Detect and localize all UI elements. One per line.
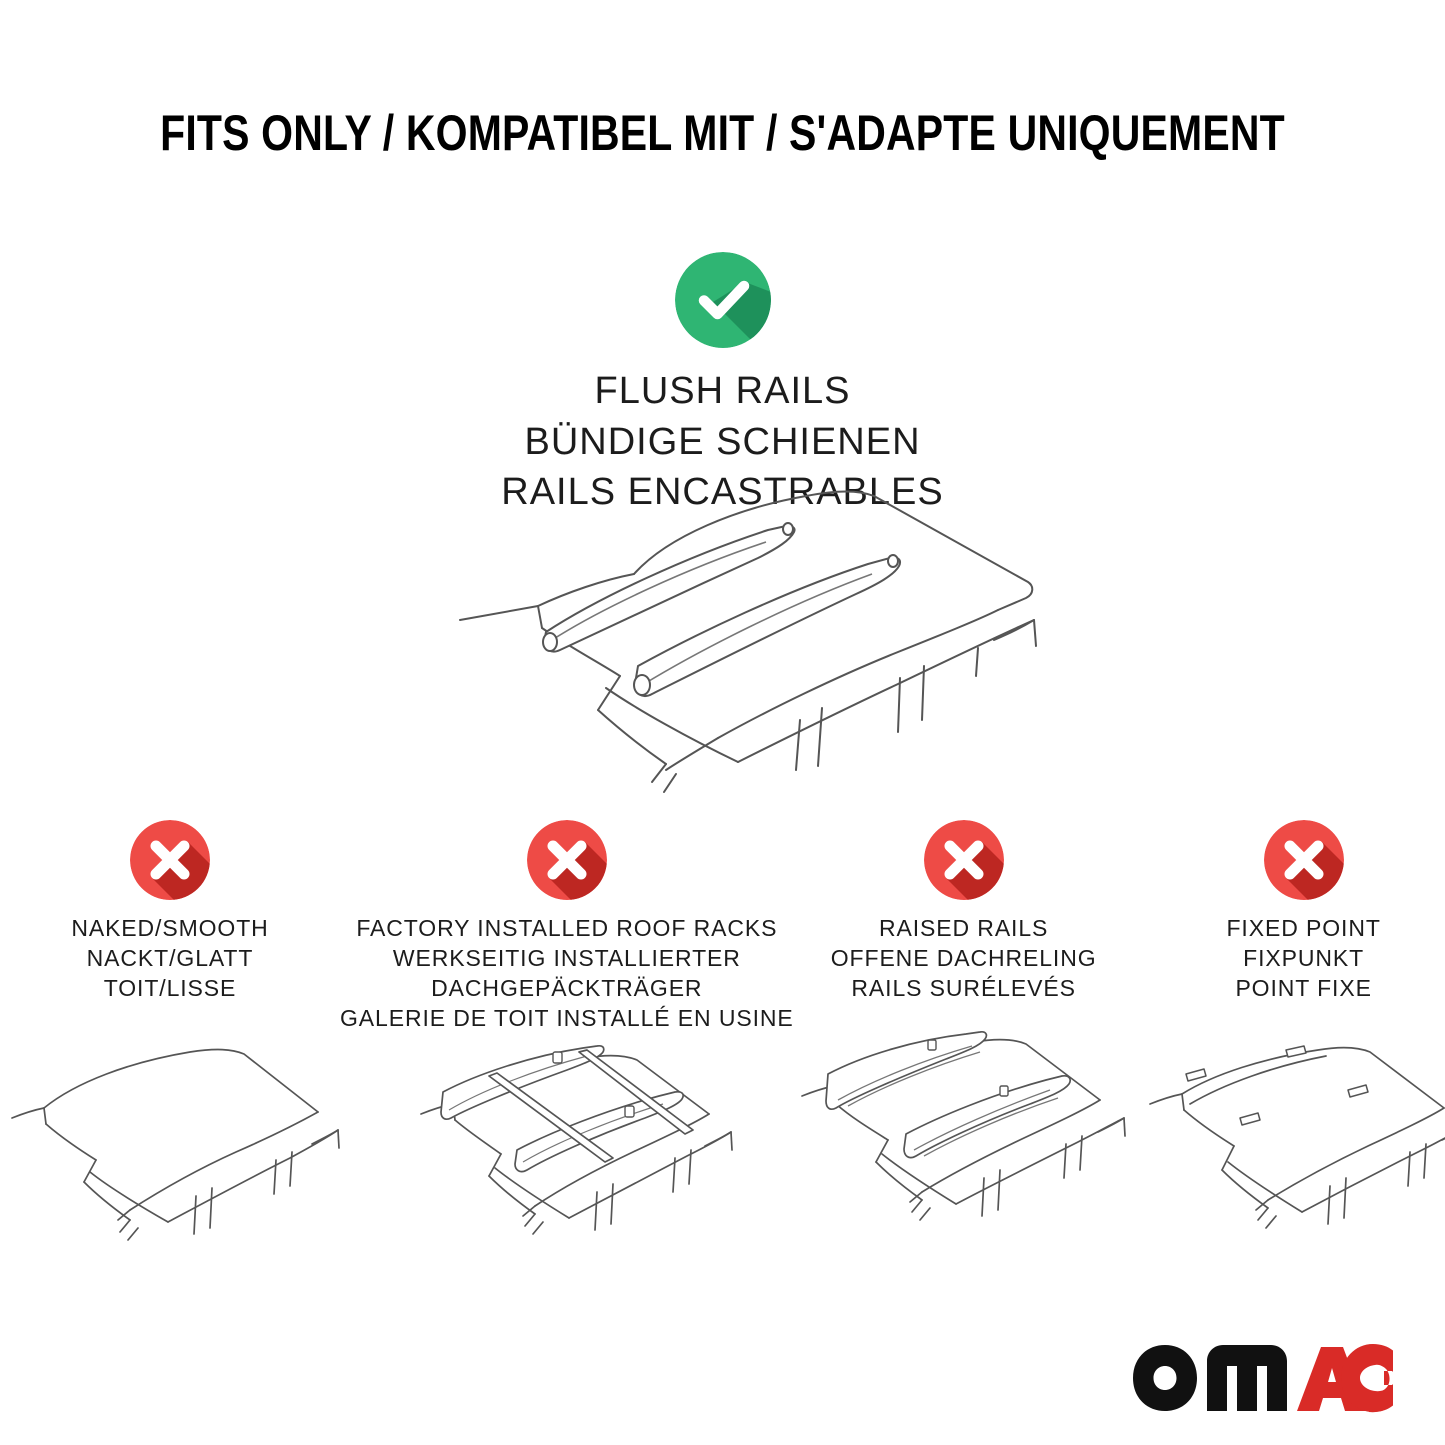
option-label-en: FIXED POINT — [1226, 914, 1380, 944]
car-roof-factory-racks-illustration — [397, 1040, 737, 1265]
car-roof-naked-illustration — [0, 1038, 340, 1263]
option-label-en: NAKED/SMOOTH — [71, 914, 268, 944]
page-title: FITS ONLY / KOMPATIBEL MIT / S'ADAPTE UN… — [130, 104, 1315, 162]
option-fixed-point: FIXED POINT FIXPUNKT POINT FIXE — [1134, 820, 1445, 1263]
option-label-de-1: WERKSEITIG INSTALLIERTER — [340, 944, 794, 974]
cross-circle-icon — [527, 820, 607, 900]
option-labels: NAKED/SMOOTH NACKT/GLATT TOIT/LISSE — [71, 914, 268, 1014]
compatible-label-en: FLUSH RAILS — [0, 366, 1445, 417]
option-labels: RAISED RAILS OFFENE DACHRELING RAILS SUR… — [831, 914, 1097, 1014]
car-roof-raised-rails-illustration — [794, 1028, 1134, 1253]
option-label-de-2: DACHGEPÄCKTRÄGER — [340, 974, 794, 1004]
option-labels: FIXED POINT FIXPUNKT POINT FIXE — [1226, 914, 1380, 1014]
check-circle-icon — [675, 252, 771, 348]
option-label-fr: TOIT/LISSE — [71, 974, 268, 1004]
option-raised-rails: RAISED RAILS OFFENE DACHRELING RAILS SUR… — [794, 820, 1134, 1253]
car-roof-fixed-point-illustration — [1134, 1038, 1445, 1263]
compatible-label-de: BÜNDIGE SCHIENEN — [0, 417, 1445, 468]
option-label-fr: GALERIE DE TOIT INSTALLÉ EN USINE — [340, 1004, 794, 1034]
option-factory-roof-racks: FACTORY INSTALLED ROOF RACKS WERKSEITIG … — [340, 820, 794, 1265]
cross-circle-icon — [1264, 820, 1344, 900]
option-label-fr: POINT FIXE — [1226, 974, 1380, 1004]
option-naked-smooth: NAKED/SMOOTH NACKT/GLATT TOIT/LISSE — [0, 820, 340, 1263]
incompatible-options-row: NAKED/SMOOTH NACKT/GLATT TOIT/LISSE — [0, 820, 1445, 1265]
car-roof-flush-rails-illustration — [438, 470, 1058, 800]
option-label-de: FIXPUNKT — [1226, 944, 1380, 974]
cross-circle-icon — [924, 820, 1004, 900]
cross-circle-icon — [130, 820, 210, 900]
option-labels: FACTORY INSTALLED ROOF RACKS WERKSEITIG … — [340, 914, 794, 1034]
option-label-de: OFFENE DACHRELING — [831, 944, 1097, 974]
option-label-en: FACTORY INSTALLED ROOF RACKS — [340, 914, 794, 944]
brand-logo-omac: OMAC — [1129, 1341, 1397, 1415]
option-label-en: RAISED RAILS — [831, 914, 1097, 944]
option-label-de: NACKT/GLATT — [71, 944, 268, 974]
option-label-fr: RAILS SURÉLEVÉS — [831, 974, 1097, 1004]
